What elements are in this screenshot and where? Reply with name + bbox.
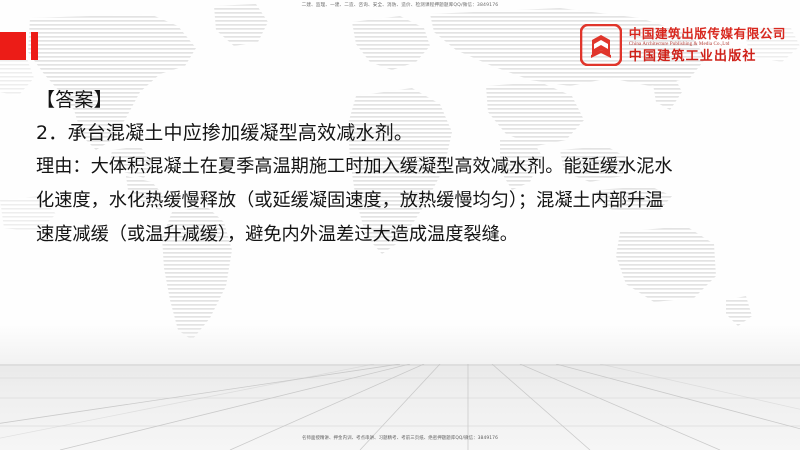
open-book-logo-icon <box>580 24 622 66</box>
header-promo-text: 二建、监理、一建、二造、咨询、安全、消防、造价、检测课程押题题库QQ/微信：38… <box>0 2 800 10</box>
reason-line-1: 理由：大体积混凝土在夏季高温期施工时加入缓凝型高效减水剂。能延缓水泥水 <box>36 150 776 184</box>
reason-line-3: 速度减缓（或温升减缓），避免内外温差过大造成温度裂缝。 <box>36 218 776 252</box>
presentation-slide: 二建、监理、一建、二造、咨询、安全、消防、造价、检测课程押题题库QQ/微信：38… <box>0 0 800 450</box>
answer-line-1: 2．承台混凝土中应掺加缓凝型高效减水剂。 <box>36 116 776 150</box>
red-accent-bar <box>31 32 38 60</box>
footer-promo-text: 名师面授精讲、押金内训、考点串讲、习题精考、考前三页纸、绝密押题题库QQ/微信：… <box>0 435 800 442</box>
reason-line-2: 化速度，水化热缓慢释放（或延缓凝固速度，放热缓慢均匀）；混凝土内部升温 <box>36 184 776 218</box>
red-accent-block <box>0 32 26 60</box>
logo-company-name-cn: 中国建筑出版传媒有限公司 <box>629 26 786 41</box>
perspective-floor: 名师面授精讲、押金内训、考点串讲、习题精考、考前三页纸、绝密押题题库QQ/微信：… <box>0 364 800 450</box>
publisher-logo: 中国建筑出版传媒有限公司 China Architecture Publishi… <box>580 24 786 66</box>
logo-press-name-cn: 中国建筑工业出版社 <box>629 48 786 65</box>
logo-company-name-en: China Architecture Publishing & Media Co… <box>629 41 786 48</box>
answer-heading: 【答案】 <box>36 84 776 116</box>
slide-body-text: 【答案】 2．承台混凝土中应掺加缓凝型高效减水剂。 理由：大体积混凝土在夏季高温… <box>36 84 776 252</box>
floor-wall-fade <box>0 324 800 364</box>
